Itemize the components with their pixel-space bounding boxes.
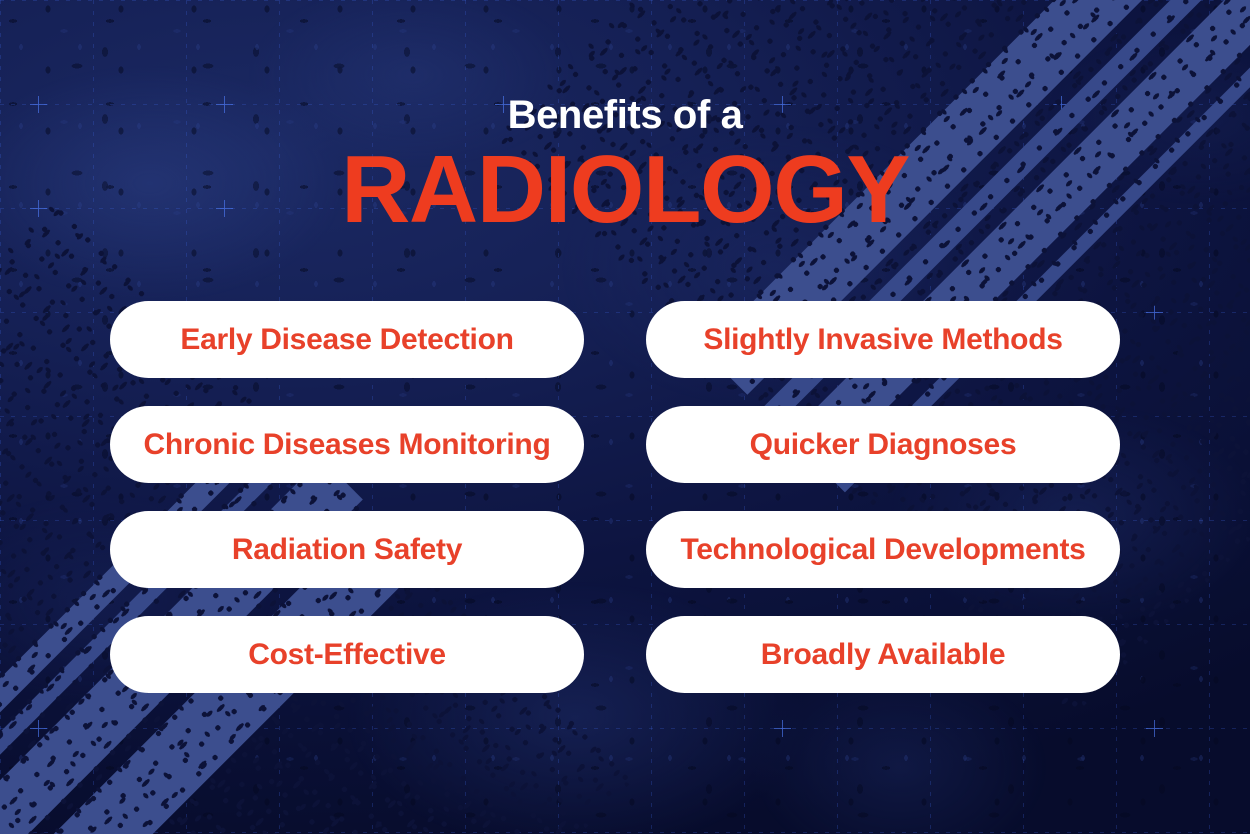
- benefit-label: Radiation Safety: [232, 533, 462, 567]
- benefit-pill-chronic-diseases-monitoring[interactable]: Chronic Diseases Monitoring: [110, 406, 584, 483]
- benefit-label: Chronic Diseases Monitoring: [144, 428, 551, 462]
- benefit-label: Broadly Available: [761, 638, 1005, 672]
- benefits-grid: Early Disease Detection Slightly Invasiv…: [110, 301, 1120, 693]
- benefit-pill-quicker-diagnoses[interactable]: Quicker Diagnoses: [646, 406, 1120, 483]
- grid-crosshair-icon: [1146, 304, 1163, 321]
- grid-crosshair-icon: [30, 720, 47, 737]
- benefit-pill-radiation-safety[interactable]: Radiation Safety: [110, 511, 584, 588]
- benefit-pill-technological-developments[interactable]: Technological Developments: [646, 511, 1120, 588]
- headline-text: RADIOLOGY: [0, 142, 1250, 238]
- benefit-label: Technological Developments: [680, 533, 1085, 567]
- benefit-label: Early Disease Detection: [180, 323, 513, 357]
- benefit-label: Slightly Invasive Methods: [703, 323, 1062, 357]
- grid-crosshair-icon: [1146, 720, 1163, 737]
- benefit-pill-slightly-invasive-methods[interactable]: Slightly Invasive Methods: [646, 301, 1120, 378]
- kicker-text: Benefits of a: [0, 94, 1250, 136]
- benefit-pill-cost-effective[interactable]: Cost-Effective: [110, 616, 584, 693]
- benefit-label: Cost-Effective: [248, 638, 446, 672]
- benefit-label: Quicker Diagnoses: [750, 428, 1017, 462]
- poster-canvas: Benefits of a RADIOLOGY Early Disease De…: [0, 0, 1250, 834]
- benefit-pill-broadly-available[interactable]: Broadly Available: [646, 616, 1120, 693]
- grid-crosshair-icon: [774, 720, 791, 737]
- benefit-pill-early-disease-detection[interactable]: Early Disease Detection: [110, 301, 584, 378]
- poster-header: Benefits of a RADIOLOGY: [0, 94, 1250, 238]
